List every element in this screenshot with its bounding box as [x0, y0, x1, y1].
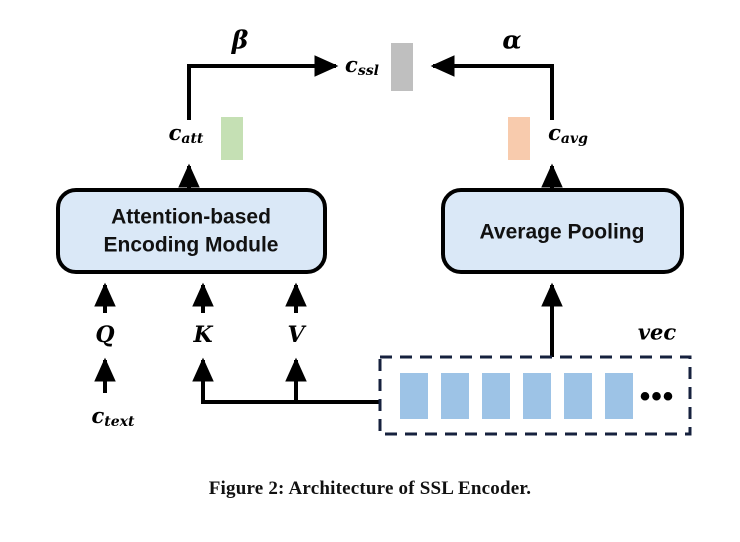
vec-block-list	[400, 373, 633, 419]
c-ssl-block	[391, 43, 413, 91]
vec-ellipsis: •••	[640, 380, 675, 413]
architecture-diagram: β α cssl catt cavg Attention-based Encod…	[0, 0, 740, 542]
v-input-label: V	[287, 322, 306, 348]
c-text-label: ctext	[92, 403, 136, 431]
c-att-label: catt	[169, 120, 204, 148]
edge-catt-to-cssl	[189, 66, 336, 120]
beta-weight-label: β	[231, 26, 249, 55]
c-avg-block	[508, 117, 530, 160]
vec-block	[441, 373, 469, 419]
k-input-label: K	[192, 322, 213, 348]
figure-caption: Figure 2: Architecture of SSL Encoder.	[0, 478, 740, 500]
vec-block	[564, 373, 592, 419]
figure-ssl-encoder: β α cssl catt cavg Attention-based Encod…	[0, 0, 740, 542]
vec-group-label: vec	[638, 320, 677, 345]
attention-module-label-line2: Encoding Module	[104, 234, 279, 257]
attention-encoding-module-box[interactable]	[58, 190, 325, 272]
vec-block	[605, 373, 633, 419]
q-input-label: Q	[95, 322, 114, 348]
attention-module-label-line1: Attention-based	[111, 206, 271, 229]
vec-block	[482, 373, 510, 419]
c-att-block	[221, 117, 243, 160]
vec-block	[523, 373, 551, 419]
vec-block	[400, 373, 428, 419]
average-pooling-module-label: Average Pooling	[480, 221, 645, 244]
c-avg-label: cavg	[548, 120, 588, 148]
alpha-weight-label: α	[502, 26, 521, 55]
c-ssl-label: cssl	[345, 52, 379, 80]
edge-cavg-to-cssl	[433, 66, 552, 120]
edge-vec-branch-trunk	[203, 360, 380, 402]
